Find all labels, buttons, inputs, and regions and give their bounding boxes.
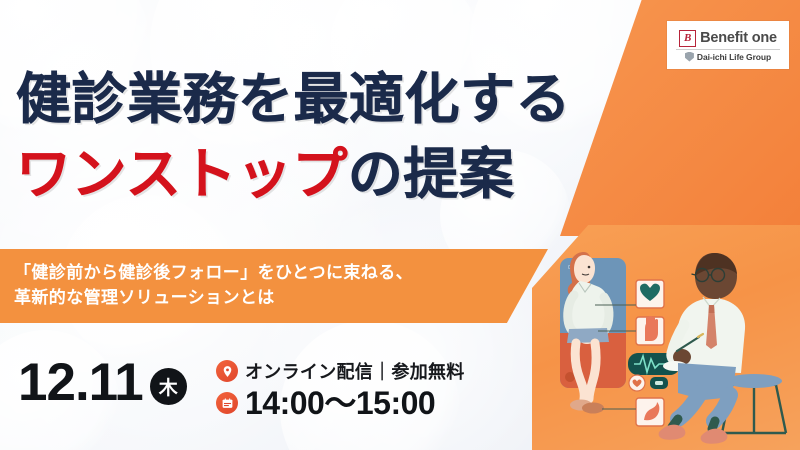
event-time: 14:00〜15:00 [245, 387, 435, 419]
logo-group-row: Dai-ichi Life Group [685, 52, 771, 62]
telehealth-consultation-illustration: 09:41 [532, 225, 800, 450]
subtitle-line-1: 「健診前から健診後フォロー」をひとつに束ねる、 [14, 261, 548, 286]
brand-name: Benefit one [700, 30, 777, 46]
logo-primary-row: B Benefit one [679, 30, 777, 47]
shield-icon [685, 52, 694, 62]
logo-divider [676, 49, 780, 50]
map-pin-icon [216, 360, 238, 382]
webinar-banner: B Benefit one Dai-ichi Life Group 健診業務を最… [0, 0, 800, 450]
event-format-label: オンライン配信｜参加無料 [245, 358, 465, 384]
event-date-number: 12.11 [18, 356, 143, 409]
page-title-line-1: 健診業務を最適化する [16, 72, 571, 127]
page-title-line-2: ワンストップの提案 [16, 147, 514, 202]
event-date: 12.11 木 [18, 356, 187, 409]
brand-logo: B Benefit one Dai-ichi Life Group [667, 21, 789, 69]
page-title-line-2-rest: の提案 [348, 143, 515, 205]
benefit-one-b-mark-icon: B [679, 30, 696, 47]
event-details: オンライン配信｜参加無料 14:00〜15:00 [216, 358, 465, 419]
subtitle-banner: 「健診前から健診後フォロー」をひとつに束ねる、 革新的な管理ソリューションとは [0, 249, 548, 323]
calendar-icon [216, 392, 238, 414]
day-of-week-badge: 木 [150, 368, 187, 405]
page-title-highlight: ワンストップ [16, 143, 348, 205]
event-format-row: オンライン配信｜参加無料 [216, 358, 465, 384]
subtitle-line-2: 革新的な管理ソリューションとは [14, 286, 548, 311]
brand-group-name: Dai-ichi Life Group [697, 52, 771, 62]
event-time-row: 14:00〜15:00 [216, 387, 465, 419]
